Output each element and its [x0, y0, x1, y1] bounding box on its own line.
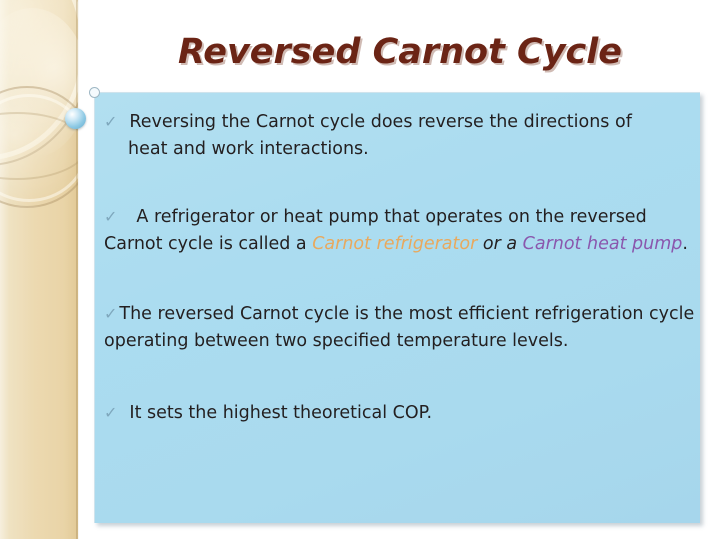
bullet-1-line-2: heat and work interactions.	[128, 139, 369, 159]
panel-corner-handle[interactable]	[89, 87, 100, 98]
list-item: ✓Reversing the Carnot cycle does reverse…	[104, 108, 700, 163]
list-item: ✓A refrigerator or heat pump that operat…	[104, 203, 700, 258]
list-item: ✓It sets the highest theoretical COP.	[104, 399, 700, 427]
check-icon: ✓	[104, 300, 117, 327]
list-item: ✓The reversed Carnot cycle is the most e…	[104, 300, 700, 355]
slide-canvas: Reversed Carnot Cycle ✓Reversing the Car…	[0, 0, 720, 539]
bullet-2-emphasis-refrigerator: Carnot refrigerator	[312, 234, 477, 254]
bullet-2-emphasis-heat-pump: Carnot heat pump	[523, 234, 683, 254]
bullet-4-text: It sets the highest theoretical COP.	[129, 403, 432, 423]
check-icon: ✓	[104, 399, 117, 426]
bullet-2-connector: or a	[477, 234, 522, 254]
check-icon: ✓	[104, 108, 117, 135]
page-title: Reversed Carnot Cycle	[100, 32, 700, 72]
decorative-sidebar	[0, 0, 78, 539]
sidebar-edge-shadow	[76, 0, 79, 539]
bullet-2-tail: .	[682, 234, 688, 254]
bullet-list: ✓Reversing the Carnot cycle does reverse…	[104, 100, 700, 427]
bullet-3-text: The reversed Carnot cycle is the most ef…	[104, 304, 694, 351]
check-icon: ✓	[104, 203, 117, 230]
blue-bead-decoration	[65, 108, 86, 129]
bullet-1-line-1: Reversing the Carnot cycle does reverse …	[129, 112, 631, 132]
